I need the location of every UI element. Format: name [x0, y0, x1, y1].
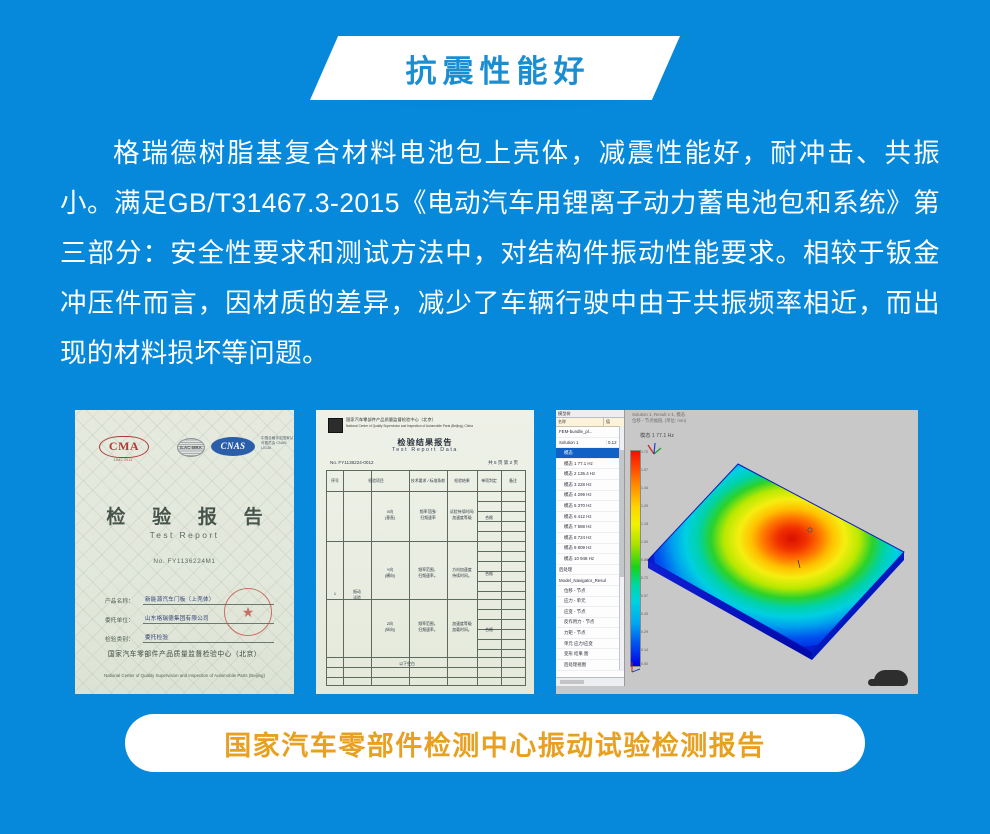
report-issuing-org-cn: 国家汽车零部件产品质量监督检验中心（北京） — [75, 648, 294, 658]
fea-tree-item-label: 后处理视图 — [556, 662, 606, 668]
cma-logo-icon: CMA — [99, 436, 149, 458]
table-cell: 试验持续时间/ 加速度等级 — [447, 509, 477, 520]
fea-tree-item[interactable]: 反作用力 - 节点 — [556, 618, 624, 629]
fea-tree-item-label: 模态 7 588 Hz — [556, 524, 606, 530]
coordinate-axis-icon — [630, 660, 642, 674]
table-col-header: 检验项目 — [343, 478, 409, 484]
fea-tree-item[interactable]: 单元 应力/应变 — [556, 639, 624, 650]
national-emblem-icon — [328, 418, 343, 433]
fea-tree-item[interactable]: Model_Navigator_Results — [556, 575, 624, 586]
fea-tree-title: 模型树 — [556, 410, 624, 418]
fea-tree-item-label: 模态 1 77.1 Hz — [556, 461, 606, 467]
fea-tree-item[interactable]: 后处理视图 — [556, 660, 624, 671]
fea-tree-item[interactable]: 模态 — [556, 448, 624, 459]
fea-tree-item[interactable]: 模态 5 370 Hz — [556, 501, 624, 512]
fea-tree-item[interactable]: 应变 - 节点 — [556, 607, 624, 618]
fea-tree-item-label: 变形 结果 图 — [556, 651, 606, 657]
table-cell: 合格 — [477, 627, 501, 633]
table-cell: 频率范围， 扫频速率。 — [409, 621, 447, 632]
fea-tree-item[interactable]: 模态 2 136.4 Hz — [556, 469, 624, 480]
fea-tree-item-label: Model_Navigator_Results — [556, 578, 606, 583]
fea-tree-item-label: 模态 5 370 Hz — [556, 503, 606, 509]
fea-tree-column-headers: 名称 值 — [556, 418, 624, 427]
image-inspection-report[interactable]: CMA JJMC 2013 ILAC-MRA CNAS 中国合格评定国家认可委员… — [75, 410, 294, 694]
mouse-device-photo — [874, 670, 908, 686]
table-cell: 合格 — [477, 571, 501, 577]
fea-tree-scrollbar-thumb[interactable] — [620, 450, 624, 577]
certification-logo-row: CMA JJMC 2013 ILAC-MRA CNAS 中国合格评定国家认可委员… — [89, 436, 280, 462]
fea-tree-item-label: FEM-bundle_pl... — [556, 429, 606, 434]
fea-tree-item-label: Solution 1 — [556, 440, 606, 445]
official-seal-icon: ★ — [224, 588, 272, 636]
table-col-header: 备注 — [501, 478, 525, 484]
table-footer-note: 以下空白 — [367, 661, 447, 667]
fea-tree-item-label: 模态 3 228 Hz — [556, 482, 606, 488]
table-cell: 方向加速度 持续时间。 — [447, 567, 477, 578]
table-cell: Z向 (纵向) — [371, 621, 409, 632]
report-issuing-org-en: National Center of Quality Supervision a… — [91, 672, 278, 680]
fea-tree-item[interactable]: 力矩 - 节点 — [556, 628, 624, 639]
fea-tree-item-label: 位移 - 节点 — [556, 588, 606, 594]
fea-tree-item-label: 力矩 - 节点 — [556, 630, 606, 636]
fea-tree-item-label: 应变 - 节点 — [556, 609, 606, 615]
table-cell: 1 — [327, 591, 343, 597]
table-meta-right: 共 5 页 第 2 页 — [488, 460, 518, 466]
fea-tree-item[interactable]: 模态 8 724 Hz — [556, 533, 624, 544]
fea-tree-item[interactable]: FEM-bundle_pl... — [556, 427, 624, 438]
fea-tree-status-bar — [556, 677, 624, 686]
caption-text: 国家汽车零部件检测中心振动试验检测报告 — [224, 724, 766, 763]
colorbar-tick: 1.72 — [641, 450, 648, 454]
table-cell: 加速度等级 加载时间。 — [447, 621, 477, 632]
fea-tree-item-label: 模态 8 724 Hz — [556, 535, 606, 541]
fea-tree-item[interactable]: 模态 4 299 Hz — [556, 491, 624, 502]
table-title-en: Test Report Data — [316, 447, 534, 453]
table-col-header: 技术要求 / 标准条款 — [409, 478, 447, 484]
fea-tree-item[interactable]: 模态 3 228 Hz — [556, 480, 624, 491]
table-cell: 振动 试验 — [343, 589, 371, 600]
fea-tree-item-label: 模态 9 809 Hz — [556, 545, 606, 551]
fea-tree-item-label: 模态 6 412 Hz — [556, 514, 606, 520]
table-col-header: 检验结果 — [447, 478, 477, 484]
table-cell: Y向 (横向) — [371, 567, 409, 578]
fea-tree-item[interactable]: 后处理 — [556, 565, 624, 576]
fea-tree-item[interactable]: 模态 10 948 Hz — [556, 554, 624, 565]
ilac-mra-logo-icon: ILAC-MRA — [177, 438, 205, 457]
fea-tree-item[interactable]: 变形 结果 图 — [556, 649, 624, 660]
cnas-logo-note: 中国合格评定国家认可委员会 CNAS L0136 — [261, 436, 294, 452]
fea-tree-item[interactable]: 模态 7 588 Hz — [556, 522, 624, 533]
fea-tree-item-label: 模态 2 136.4 Hz — [556, 471, 606, 477]
fea-tree-item[interactable]: 模态 9 809 Hz — [556, 544, 624, 555]
fea-tree-item[interactable]: Solution 10.12 — [556, 438, 624, 449]
cnas-logo-icon: CNAS — [211, 437, 255, 456]
report-title-en: Test Report — [75, 530, 294, 540]
caption-pill: 国家汽车零部件检测中心振动试验检测报告 — [125, 714, 865, 772]
fea-tree-item-label: 单元 应力/应变 — [556, 641, 606, 647]
table-meta-left: No. FY1136224-0012 — [330, 460, 374, 465]
table-cell: X向 (垂直) — [371, 509, 409, 520]
fea-deformed-plate-contour — [642, 456, 910, 668]
table-header-cn: 国家汽车零部件产品质量监督检验中心（北京） — [346, 417, 436, 423]
fea-tree-item-label: 反作用力 - 节点 — [556, 619, 606, 625]
fea-tree-item-label: 应力 - 单元 — [556, 598, 606, 604]
table-col-header: 序号 — [327, 478, 343, 484]
fea-tree-item-label: 模态 4 299 Hz — [556, 492, 606, 498]
cma-logo-subtext: JJMC 2013 — [99, 458, 147, 462]
fea-tree-row-list[interactable]: FEM-bundle_pl...Solution 10.12模态模态 1 77.… — [556, 427, 624, 671]
fea-frequency-label: 模态 1 77.1 Hz — [640, 432, 674, 439]
report-number: No. FY1136224M1 — [75, 558, 294, 565]
fea-tree-item[interactable]: 应力 - 单元 — [556, 597, 624, 608]
report-field-label: 产品名称： — [105, 597, 143, 605]
report-field-label: 检验类别： — [105, 635, 143, 643]
image-test-result-table[interactable]: 国家汽车零部件产品质量监督检验中心（北京） National Center of… — [316, 410, 534, 694]
page-title: 抗震性能好 — [310, 36, 680, 100]
report-title-cn: 检 验 报 告 — [75, 502, 294, 529]
fea-tree-item[interactable]: 位移 - 节点 — [556, 586, 624, 597]
fea-tree-col-value: 值 — [604, 418, 624, 426]
fea-tree-item-label: 后处理 — [556, 567, 606, 573]
fea-tree-scrollbar[interactable] — [619, 426, 624, 670]
fea-tree-item-label: 模态 — [556, 450, 606, 456]
fea-tree-col-name: 名称 — [556, 418, 604, 426]
table-cell: 频率范围， 扫频速率。 — [409, 567, 447, 578]
body-paragraph: 格瑞德树脂基复合材料电池包上壳体，减震性能好，耐冲击、共振小。满足GB/T314… — [60, 128, 940, 378]
image-gallery: CMA JJMC 2013 ILAC-MRA CNAS 中国合格评定国家认可委员… — [0, 410, 990, 694]
table-grid: 序号 检验项目 技术要求 / 标准条款 检验结果 单项判定 备注 1 振动 试验… — [326, 470, 526, 686]
table-header-en: National Center of Quality Supervision a… — [346, 424, 528, 428]
fea-tree-item[interactable]: 模态 1 77.1 Hz — [556, 459, 624, 470]
fea-viewport-header-text: Solution 1, Result 1-1, 模态 位移 - 节点幅值, (单… — [632, 412, 686, 424]
table-col-header: 单项判定 — [477, 478, 501, 484]
image-fea-modal-analysis[interactable]: 模型树 名称 值 FEM-bundle_pl...Solution 10.12模… — [556, 410, 918, 694]
table-cell: 频率范围/ 扫频速率 — [409, 509, 447, 520]
table-cell: 合格 — [477, 515, 501, 521]
fea-colorbar — [630, 450, 641, 667]
header-banner: 抗震性能好 — [0, 14, 990, 96]
fea-tree-item[interactable]: 模态 6 412 Hz — [556, 512, 624, 523]
fea-model-tree-panel[interactable]: 模型树 名称 值 FEM-bundle_pl...Solution 10.12模… — [556, 410, 625, 686]
report-field-label: 委托单位： — [105, 616, 143, 624]
fea-tree-item-label: 模态 10 948 Hz — [556, 556, 606, 562]
